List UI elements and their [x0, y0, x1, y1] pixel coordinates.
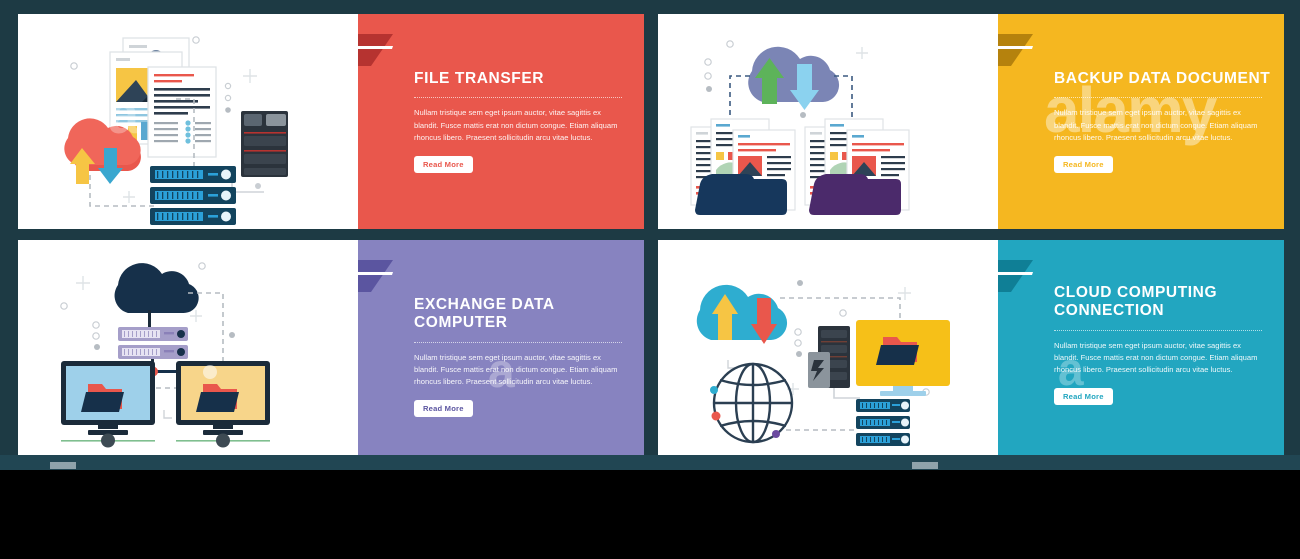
title-divider — [1054, 330, 1262, 331]
screenshot-root: FILE TRANSFER Nullam tristique sem eget … — [0, 0, 1300, 559]
title-divider — [1054, 97, 1262, 98]
title-divider — [414, 97, 622, 98]
banner-text-block: EXCHANGE DATA COMPUTER Nullam tristique … — [414, 240, 644, 455]
banner-title: FILE TRANSFER — [414, 70, 644, 88]
sliver-mark-left — [50, 462, 76, 469]
banner-body: Nullam tristique sem eget ipsum auctor, … — [414, 107, 626, 144]
banner-cloud-computing-connection[interactable]: CLOUD COMPUTING CONNECTION Nullam tristi… — [658, 240, 1284, 455]
read-more-button[interactable]: Read More — [414, 156, 473, 173]
footer-bar: alamy Image ID: 2A4R08J www.alamy.com — [0, 470, 1300, 559]
illustration-exchange-data-computer — [18, 240, 358, 455]
banner-title: CLOUD COMPUTING CONNECTION — [1054, 284, 1284, 321]
banner-text-block: BACKUP DATA DOCUMENT Nullam tristique se… — [1054, 14, 1284, 229]
banner-backup-data-document[interactable]: BACKUP DATA DOCUMENT Nullam tristique se… — [658, 14, 1284, 229]
read-more-button[interactable]: Read More — [1054, 388, 1113, 405]
banner-title: EXCHANGE DATA COMPUTER — [414, 296, 644, 333]
banner-body: Nullam tristique sem eget ipsum auctor, … — [1054, 107, 1266, 144]
stock-photo-canvas: FILE TRANSFER Nullam tristique sem eget … — [0, 0, 1300, 470]
banner-title: BACKUP DATA DOCUMENT — [1054, 70, 1284, 88]
sliver-mark-right — [912, 462, 938, 469]
banner-body: Nullam tristique sem eget ipsum auctor, … — [414, 352, 626, 389]
banner-body: Nullam tristique sem eget ipsum auctor, … — [1054, 340, 1266, 377]
read-more-button[interactable]: Read More — [414, 400, 473, 417]
read-more-button[interactable]: Read More — [1054, 156, 1113, 173]
cut-off-banner-sliver — [0, 455, 1300, 470]
title-divider — [414, 342, 622, 343]
illustration-file-transfer — [18, 14, 358, 229]
illustration-cloud-computing-connection — [658, 240, 998, 455]
banner-file-transfer[interactable]: FILE TRANSFER Nullam tristique sem eget … — [18, 14, 644, 229]
banner-text-block: FILE TRANSFER Nullam tristique sem eget … — [414, 14, 644, 229]
illustration-backup-data-document — [658, 14, 998, 229]
banner-text-block: CLOUD COMPUTING CONNECTION Nullam tristi… — [1054, 240, 1284, 455]
banner-exchange-data-computer[interactable]: EXCHANGE DATA COMPUTER Nullam tristique … — [18, 240, 644, 455]
